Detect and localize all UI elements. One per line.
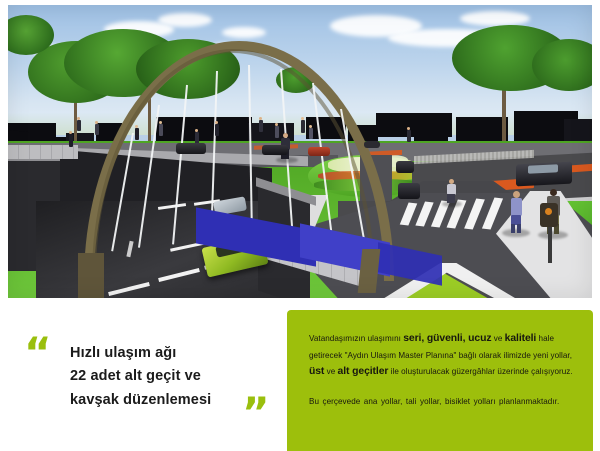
panel-p1-bold-4: alt geçitler bbox=[338, 366, 389, 377]
car-dark-mid bbox=[262, 145, 288, 155]
bridge-pylon-base bbox=[78, 253, 104, 298]
panel-text-container: Vatandaşımızın ulaşımını seri, güvenli, … bbox=[309, 330, 575, 419]
cloud bbox=[460, 11, 530, 26]
car-dark-center bbox=[398, 183, 420, 199]
pull-quote-line-1: Hızlı ulaşım ağı bbox=[70, 342, 280, 365]
underpass-coping-blocks bbox=[8, 145, 78, 159]
panel-p1-text-5: ile oluşturulacak güzergâhlar üzerinde ç… bbox=[388, 367, 572, 376]
pedestrian bbox=[274, 123, 279, 138]
traffic-signal-post bbox=[548, 223, 552, 263]
panel-p1-bold-2: kaliteli bbox=[505, 333, 537, 344]
pedestrian bbox=[214, 121, 219, 136]
panel-p1-bold-3: üst bbox=[309, 366, 324, 377]
quote-open-icon: “ bbox=[24, 332, 50, 374]
panel-p1-text-4: ve bbox=[324, 367, 337, 376]
traffic-signal-lamp bbox=[545, 208, 552, 215]
car-dark-mid bbox=[176, 143, 206, 154]
pedestrian bbox=[158, 121, 163, 136]
panel-p1-text-1: Vatandaşımızın ulaşımını bbox=[309, 334, 403, 343]
car-far bbox=[364, 141, 380, 148]
panel-paragraph-2: Bu çerçevede ana yollar, tali yollar, bi… bbox=[309, 395, 575, 409]
pedestrian bbox=[76, 117, 81, 131]
quote-close-icon: ” bbox=[242, 392, 268, 434]
car-red-mid bbox=[308, 147, 330, 156]
pedestrian bbox=[134, 125, 139, 140]
cloud bbox=[222, 27, 266, 38]
project-rendering-image bbox=[8, 5, 592, 298]
car-dark-center bbox=[396, 161, 414, 173]
pedestrian bbox=[68, 131, 73, 147]
car-suv-window bbox=[528, 164, 558, 174]
pedestrian bbox=[94, 121, 99, 135]
panel-p1-text-2: ve bbox=[491, 334, 504, 343]
pedestrian bbox=[258, 117, 263, 132]
building-block bbox=[564, 119, 592, 143]
cloud bbox=[158, 13, 212, 27]
pedestrian bbox=[300, 117, 305, 133]
panel-p1-bold-1: seri, güvenli, ucuz bbox=[403, 333, 491, 344]
pedestrian-foreground bbox=[446, 179, 456, 203]
rendering-scene bbox=[8, 5, 592, 298]
panel-paragraph-1: Vatandaşımızın ulaşımını seri, güvenli, … bbox=[309, 330, 575, 381]
bottom-content-band: “ Hızlı ulaşım ağı 22 adet alt geçit ve … bbox=[0, 298, 600, 451]
green-info-panel: Vatandaşımızın ulaşımını seri, güvenli, … bbox=[287, 310, 593, 451]
traffic-signal-head bbox=[540, 203, 558, 227]
pedestrian-foreground bbox=[510, 191, 522, 231]
pedestrian bbox=[406, 127, 411, 142]
pedestrian bbox=[308, 125, 313, 139]
page-root: “ Hızlı ulaşım ağı 22 adet alt geçit ve … bbox=[0, 0, 600, 451]
pull-quote-line-2: 22 adet alt geçit ve bbox=[70, 365, 280, 388]
pedestrian bbox=[194, 129, 199, 144]
